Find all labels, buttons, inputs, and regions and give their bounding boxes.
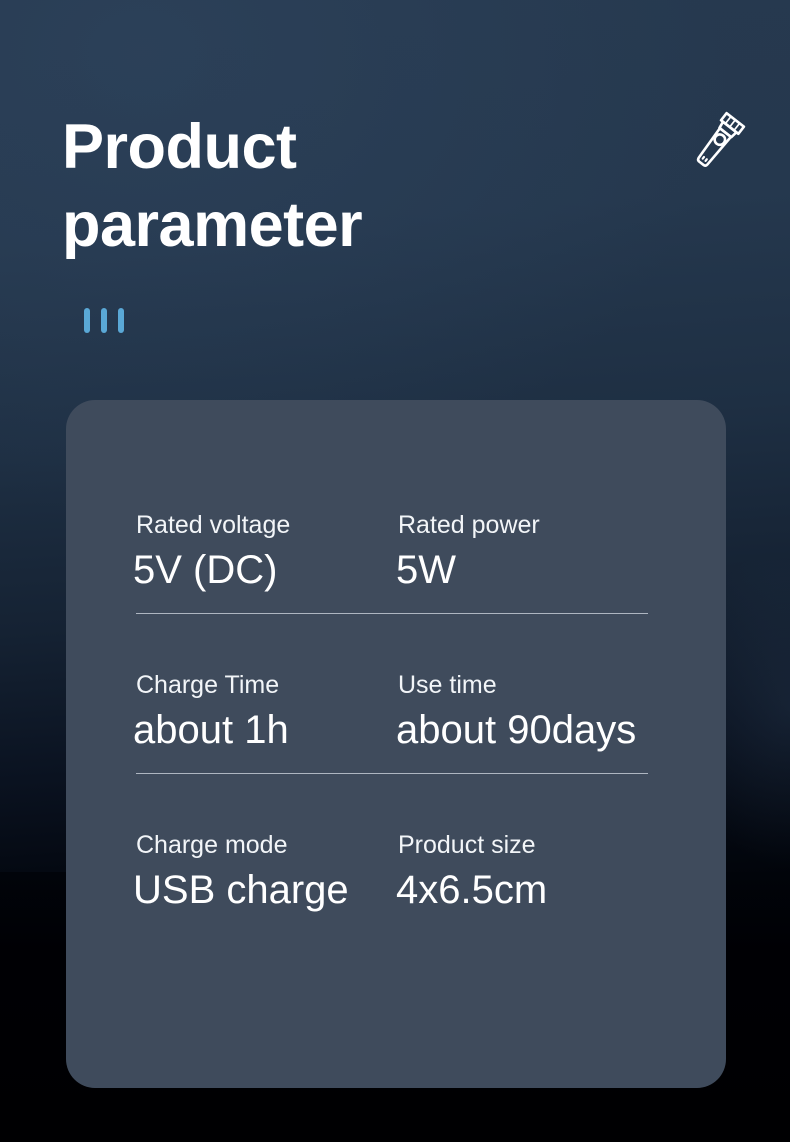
parameter-label: Product size — [396, 830, 656, 860]
parameter-cell: Charge Time about 1h — [136, 670, 396, 756]
parameter-value: about 90days — [396, 704, 656, 756]
parameter-value: 5W — [396, 544, 656, 596]
parameter-label: Use time — [396, 670, 656, 700]
parameter-value: about 1h — [133, 704, 396, 756]
parameter-cell: Charge mode USB charge — [136, 830, 396, 916]
parameter-value: 5V (DC) — [133, 544, 396, 596]
page-title: Product parameter — [62, 108, 582, 264]
parameter-value: 4x6.5cm — [396, 864, 656, 916]
parameter-rows: Rated voltage 5V (DC) Rated power 5W Cha… — [136, 510, 656, 934]
parameter-cell: Rated power 5W — [396, 510, 656, 596]
parameter-value: USB charge — [133, 864, 396, 916]
parameter-label: Rated power — [396, 510, 656, 540]
flashlight-icon — [686, 108, 750, 176]
accent-bar — [84, 308, 90, 333]
parameter-row: Charge mode USB charge Product size 4x6.… — [136, 830, 656, 934]
parameter-row: Rated voltage 5V (DC) Rated power 5W — [136, 510, 656, 614]
accent-bars — [84, 308, 124, 333]
parameter-cell: Product size 4x6.5cm — [396, 830, 656, 916]
row-divider — [136, 613, 648, 614]
parameter-cell: Rated voltage 5V (DC) — [136, 510, 396, 596]
parameter-row: Charge Time about 1h Use time about 90da… — [136, 670, 656, 774]
parameter-cell: Use time about 90days — [396, 670, 656, 756]
parameter-card: Rated voltage 5V (DC) Rated power 5W Cha… — [66, 400, 726, 1088]
parameter-label: Charge Time — [136, 670, 396, 700]
accent-bar — [101, 308, 107, 333]
accent-bar — [118, 308, 124, 333]
parameter-label: Charge mode — [136, 830, 396, 860]
parameter-label: Rated voltage — [136, 510, 396, 540]
row-divider — [136, 773, 648, 774]
